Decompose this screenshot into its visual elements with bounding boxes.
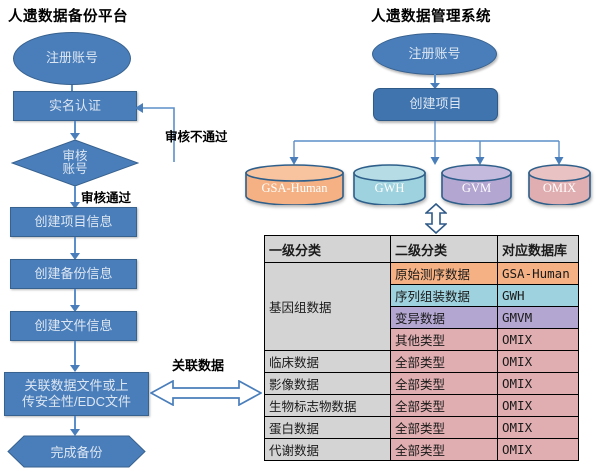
- cell-level1-metabolic: 代谢数据: [265, 439, 391, 461]
- cell-level2-raw-seq: 原始测序数据: [391, 263, 498, 285]
- link-files-line2: 传安全性/EDC文件: [22, 394, 131, 410]
- right-panel-title: 人遗数据管理系统: [371, 5, 491, 26]
- cell-level1-protein: 蛋白数据: [265, 417, 391, 439]
- table-row: 基因组数据 原始测序数据 GSA-Human: [265, 263, 579, 285]
- connector-file-to-link: [68, 341, 82, 373]
- table-row: 蛋白数据 全部类型 OMIX: [265, 417, 579, 439]
- cell-level2-assembly: 序列组装数据: [391, 285, 498, 307]
- cell-db-gwh: GWH: [498, 285, 579, 307]
- node-link-data-files[interactable]: 关联数据文件或上 传安全性/EDC文件: [4, 372, 149, 416]
- cell-db-omix-biomarker: OMIX: [498, 395, 579, 417]
- node-create-project-mgmt[interactable]: 创建项目: [373, 88, 498, 121]
- table-row: 代谢数据 全部类型 OMIX: [265, 439, 579, 461]
- connector-realname-to-audit: [68, 121, 82, 141]
- left-panel-title: 人遗数据备份平台: [8, 5, 128, 26]
- table-row: 临床数据 全部类型 OMIX: [265, 351, 579, 373]
- link-files-line1: 关联数据文件或上: [24, 378, 128, 394]
- database-cylinder-omix[interactable]: OMIX: [528, 164, 591, 205]
- connector-fanout-to-databases: [288, 121, 574, 168]
- node-create-backup-info[interactable]: 创建备份信息: [10, 259, 137, 289]
- connector-link-to-finish: [68, 416, 82, 437]
- node-create-project-info[interactable]: 创建项目信息: [10, 207, 137, 237]
- node-register-backup[interactable]: 注册账号: [13, 32, 131, 85]
- connector-project-to-backup: [68, 237, 82, 261]
- connector-backup-to-file: [68, 289, 82, 313]
- cell-level2-all-imaging: 全部类型: [391, 373, 498, 395]
- table-header-database: 对应数据库: [498, 236, 579, 263]
- classification-table: 一级分类 二级分类 对应数据库 基因组数据 原始测序数据 GSA-Human 序…: [264, 235, 579, 461]
- database-cylinder-gvm[interactable]: GVM: [441, 164, 512, 205]
- cell-level2-all-protein: 全部类型: [391, 417, 498, 439]
- cell-level1-imaging: 影像数据: [265, 373, 391, 395]
- database-cylinder-gwh[interactable]: GWH: [353, 164, 426, 205]
- edge-label-audit-fail: 审核不通过: [165, 126, 228, 145]
- node-audit-account[interactable]: 审核 账号: [11, 139, 139, 187]
- cell-db-gsa-human: GSA-Human: [498, 263, 579, 285]
- cell-level2-all-metabolic: 全部类型: [391, 439, 498, 461]
- bridge-label-link-data: 关联数据: [172, 355, 224, 374]
- node-finish-backup[interactable]: 完成备份: [7, 435, 146, 468]
- table-header-level1: 一级分类: [265, 236, 391, 263]
- node-create-file-info[interactable]: 创建文件信息: [10, 311, 137, 341]
- cell-level2-variation: 变异数据: [391, 307, 498, 329]
- cell-level1-clinical: 临床数据: [265, 351, 391, 373]
- cell-level2-all-clinical: 全部类型: [391, 351, 498, 373]
- cell-db-omix: OMIX: [498, 329, 579, 351]
- bridge-double-arrow: [150, 380, 262, 406]
- cell-level1-biomarker: 生物标志物数据: [265, 395, 391, 417]
- edge-label-audit-pass: 审核通过: [81, 187, 131, 206]
- cell-level2-other: 其他类型: [391, 329, 498, 351]
- table-row: 影像数据 全部类型 OMIX: [265, 373, 579, 395]
- node-realname-auth[interactable]: 实名认证: [13, 91, 137, 121]
- cell-db-omix-clinical: OMIX: [498, 351, 579, 373]
- table-row: 生物标志物数据 全部类型 OMIX: [265, 395, 579, 417]
- cell-db-gmvm: GMVM: [498, 307, 579, 329]
- database-cylinder-gsa-human[interactable]: GSA-Human: [245, 164, 344, 205]
- node-register-mgmt[interactable]: 注册账号: [372, 33, 497, 75]
- table-header-level2: 二级分类: [391, 236, 498, 263]
- cell-level1-genome: 基因组数据: [265, 263, 391, 351]
- vertical-double-arrow: [425, 203, 447, 234]
- cell-db-omix-metabolic: OMIX: [498, 439, 579, 461]
- cell-level2-all-biomarker: 全部类型: [391, 395, 498, 417]
- table-header-row: 一级分类 二级分类 对应数据库: [265, 236, 579, 263]
- cell-db-omix-protein: OMIX: [498, 417, 579, 439]
- cell-db-omix-imaging: OMIX: [498, 373, 579, 395]
